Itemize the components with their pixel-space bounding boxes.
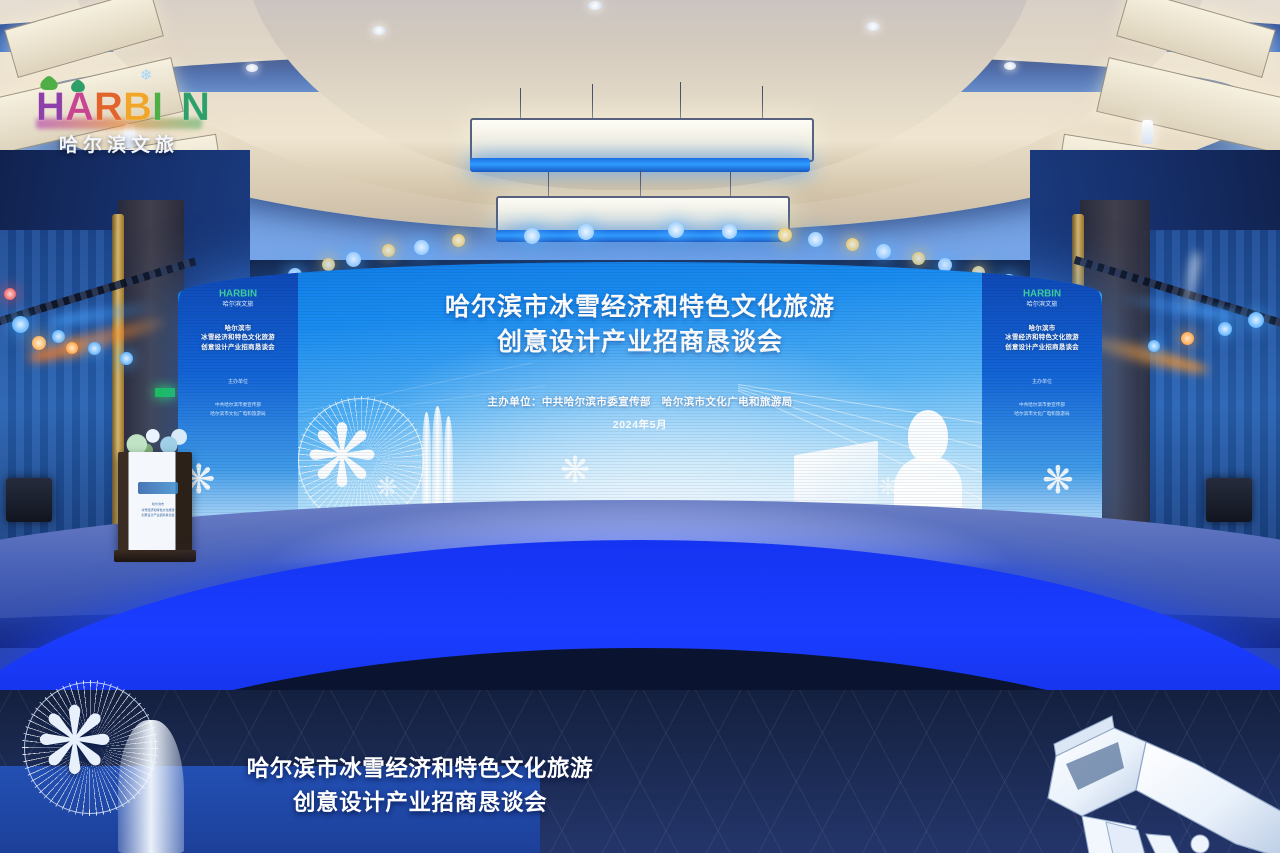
stage-light xyxy=(382,244,395,257)
speaker-left xyxy=(6,478,52,522)
light-rod xyxy=(640,170,641,198)
logo-letter: R xyxy=(94,85,123,126)
hanging-light-box-upper xyxy=(470,118,814,162)
stage-light xyxy=(808,232,823,247)
harbin-wordmark: HARBIN xyxy=(30,74,208,126)
harbin-wordmark-icon: HARBIN xyxy=(30,74,208,126)
bottom-title-line-2: 创意设计产业招商恳谈会 xyxy=(150,786,690,820)
stage-light xyxy=(524,228,540,244)
truss-lamp-orange xyxy=(1181,332,1194,345)
stage-light xyxy=(578,224,594,240)
logo-letter: H xyxy=(36,85,65,126)
stage-light xyxy=(722,224,737,239)
ceiling-downlight xyxy=(866,22,880,31)
podium-caption: 哈尔滨市 冰雪经济和特色文化旅游 创意设计产业招商恳谈会 xyxy=(134,502,182,519)
truss-lamp-blue xyxy=(1148,340,1160,352)
stage-light xyxy=(778,228,792,242)
light-rod xyxy=(592,84,593,120)
exit-sign xyxy=(155,388,175,397)
landmark-building-icon xyxy=(986,694,1280,853)
bottom-overlay-title: 哈尔滨市冰雪经济和特色文化旅游 创意设计产业招商恳谈会 xyxy=(150,752,690,820)
truss-lamp-blue xyxy=(12,316,29,333)
stage-light xyxy=(414,240,429,255)
event-photo: ❋ ❋ ❋ ❋ HARBIN 哈尔滨文旅 哈尔滨市 冰雪经济和特色文化旅游 xyxy=(0,0,1280,853)
bottom-title-line-1: 哈尔滨市冰雪经济和特色文化旅游 xyxy=(150,752,690,786)
ceiling-downlight xyxy=(1142,120,1153,144)
speaker-right xyxy=(1206,478,1252,522)
stage-light xyxy=(876,244,891,259)
logo-letter: I xyxy=(152,85,163,126)
ceiling-downlight xyxy=(246,64,258,72)
snowflake-icon: ❋ xyxy=(36,696,113,788)
ceiling-downlight xyxy=(1004,62,1016,70)
stage-light xyxy=(452,234,465,247)
truss-lamp-blue xyxy=(120,352,133,365)
truss-lamp-blue xyxy=(88,342,101,355)
harbin-logo-chinese: 哈尔滨文旅 xyxy=(44,130,194,157)
logo-letter: N xyxy=(181,85,208,126)
truss-lamp-blue xyxy=(52,330,65,343)
podium-caption-line-3: 创意设计产业招商恳谈会 xyxy=(134,513,182,519)
light-rod xyxy=(548,172,549,198)
light-rod xyxy=(680,82,681,120)
ceiling-downlight xyxy=(372,26,386,35)
logo-letter: A xyxy=(65,85,94,126)
truss-lamp-blue xyxy=(1218,322,1232,336)
light-rod xyxy=(730,172,731,198)
truss-lamp-red xyxy=(4,288,16,300)
truss-lamp-orange xyxy=(32,336,46,350)
stage-light xyxy=(846,238,859,251)
truss-lamp-blue xyxy=(1248,312,1264,328)
ceiling-downlight xyxy=(588,1,602,10)
light-rod xyxy=(762,86,763,120)
harbin-landmark-building-graphic xyxy=(986,694,1280,853)
logo-letter: B xyxy=(123,85,152,126)
hanging-light-box-lower xyxy=(496,196,790,234)
podium-logo xyxy=(138,482,178,494)
harbin-logo: ❄ HARBIN 哈尔滨文旅 xyxy=(30,44,208,156)
light-rod xyxy=(520,88,521,120)
truss-lamp-orange xyxy=(66,342,78,354)
stage-light xyxy=(668,222,684,238)
